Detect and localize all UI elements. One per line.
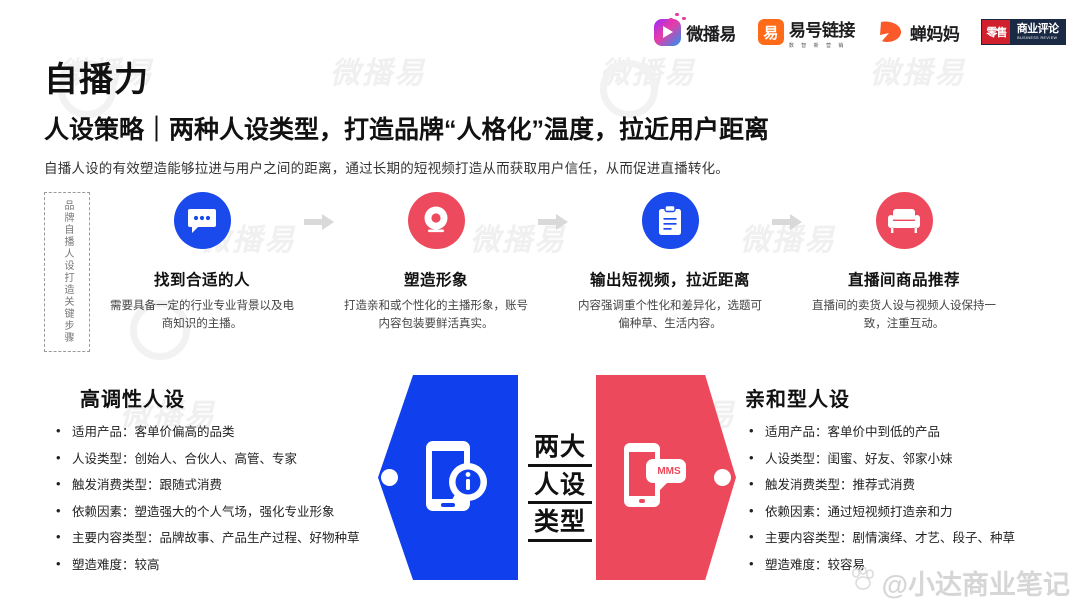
logo-retail-business-review: 零售 商业评论 BUSINESS REVIEW (981, 19, 1066, 45)
phone-mms-icon: MMS (620, 437, 694, 519)
step-description: 需要具备一定的行业专业背景以及电商知识的主播。 (104, 298, 300, 334)
persona-left-heading: 高调性人设 (52, 383, 402, 412)
list-item: 适用产品：客单价偏高的品类 (52, 426, 402, 439)
list-item: 人设类型：创始人、合伙人、高管、专家 (52, 453, 402, 466)
persona-left: 高调性人设 适用产品：客单价偏高的品类 人设类型：创始人、合伙人、高管、专家 触… (52, 383, 402, 585)
list-item: 主要内容类型：品牌故事、产品生产过程、好物种草 (52, 532, 402, 545)
corner-watermark: @小达商业笔记 (850, 563, 1070, 602)
webcam-icon (408, 192, 465, 249)
steps-section: 品牌自播人设打造关键步骤 找到合适的人 需要具备一定的行业专业背景以及电商知识的… (44, 192, 1044, 357)
step-title: 塑造形象 (338, 268, 534, 290)
arrow-right-icon (300, 214, 338, 230)
weiboyi-play-icon (654, 19, 681, 46)
step-title: 直播间商品推荐 (806, 268, 1002, 290)
page-header: 自播力 人设策略｜两种人设类型，打造品牌“人格化”温度，拉近用户距离 自播人设的… (44, 52, 769, 177)
persona-right: 亲和型人设 适用产品：客单价中到低的产品 人设类型：闺蜜、好友、邻家小妹 触发消… (745, 383, 1080, 585)
arrow-right-icon (534, 214, 572, 230)
page-description: 自播人设的有效塑造能够拉进与用户之间的距离，通过长期的短视频打造从而获取用户信任… (44, 157, 769, 177)
logo-weiboyi-label: 微播易 (686, 20, 736, 45)
persona-left-connector-dot (381, 469, 398, 486)
steps-side-label: 品牌自播人设打造关键步骤 (44, 192, 90, 352)
page-title: 自播力 (44, 52, 769, 101)
persona-left-bullets: 适用产品：客单价偏高的品类 人设类型：创始人、合伙人、高管、专家 触发消费类型：… (52, 426, 402, 571)
logo-business-review-sub: BUSINESS REVIEW (1018, 36, 1058, 40)
yihaolianjie-cart-icon: 易 (758, 19, 784, 45)
svg-text:MMS: MMS (657, 466, 681, 477)
step-item: 输出短视频，拉近距离 内容强调重个性化和差异化，选题可偏种草、生活内容。 (572, 192, 768, 334)
list-item: 人设类型：闺蜜、好友、邻家小妹 (745, 453, 1080, 466)
persona-right-connector-dot (714, 469, 731, 486)
corner-watermark-text: @小达商业笔记 (882, 563, 1070, 602)
list-item: 依赖因素：塑造强大的个人气场，强化专业形象 (52, 506, 402, 519)
personas-center-label: 两大 人设 类型 (528, 432, 592, 545)
sofa-icon (876, 192, 933, 249)
phone-info-icon (418, 437, 492, 519)
logo-business-review-label: 商业评论 (1017, 24, 1059, 35)
step-title: 输出短视频，拉近距离 (572, 268, 768, 290)
persona-right-bullets: 适用产品：客单价中到低的产品 人设类型：闺蜜、好友、邻家小妹 触发消费类型：推荐… (745, 426, 1080, 571)
list-item: 主要内容类型：剧情演绎、才艺、段子、种草 (745, 532, 1080, 545)
list-item: 塑造难度：较高 (52, 559, 402, 572)
sparkle-dots-icon (669, 12, 687, 24)
list-item: 适用产品：客单价中到低的产品 (745, 426, 1080, 439)
center-label-line: 类型 (528, 507, 592, 542)
persona-right-heading: 亲和型人设 (745, 383, 1080, 412)
arrow-right-icon (768, 214, 806, 230)
logo-chanmama-label: 蝉妈妈 (910, 20, 960, 45)
center-label-line: 两大 (528, 432, 592, 467)
page-subtitle: 人设策略｜两种人设类型，打造品牌“人格化”温度，拉近用户距离 (44, 110, 769, 146)
chanmama-swoosh-icon (877, 19, 905, 45)
logo-yihaolianjie-sub: 数 智 新 营 销 (789, 42, 855, 49)
list-item: 触发消费类型：跟随式消费 (52, 479, 402, 492)
watermark-text: 微播易 (870, 48, 966, 92)
logo-chanmama: 蝉妈妈 (877, 19, 960, 45)
chat-bubble-icon (174, 192, 231, 249)
logo-retail-label: 零售 (982, 20, 1010, 44)
step-item: 塑造形象 打造亲和或个性化的主播形象，账号内容包装要鲜活真实。 (338, 192, 534, 334)
logo-weiboyi: 微播易 (654, 19, 736, 46)
center-label-line: 人设 (528, 470, 592, 505)
step-description: 内容强调重个性化和差异化，选题可偏种草、生活内容。 (572, 298, 768, 334)
steps-side-label-text: 品牌自播人设打造关键步骤 (62, 200, 72, 344)
step-description: 直播间的卖货人设与视频人设保持一致，注重互动。 (806, 298, 1002, 334)
brand-logo-bar: 微播易 易 易号链接 数 智 新 营 销 蝉妈妈 零售 商业评论 BUSINES… (654, 12, 1066, 52)
paw-icon (850, 567, 876, 598)
list-item: 依赖因素：通过短视频打造亲和力 (745, 506, 1080, 519)
list-item: 触发消费类型：推荐式消费 (745, 479, 1080, 492)
step-item: 找到合适的人 需要具备一定的行业专业背景以及电商知识的主播。 (104, 192, 300, 334)
logo-yihaolianjie: 易 易号链接 数 智 新 营 销 (758, 16, 855, 49)
clipboard-icon (642, 192, 699, 249)
step-item: 直播间商品推荐 直播间的卖货人设与视频人设保持一致，注重互动。 (806, 192, 1002, 334)
step-title: 找到合适的人 (104, 268, 300, 290)
logo-yihaolianjie-label: 易号链接 (789, 21, 855, 40)
step-description: 打造亲和或个性化的主播形象，账号内容包装要鲜活真实。 (338, 298, 534, 334)
